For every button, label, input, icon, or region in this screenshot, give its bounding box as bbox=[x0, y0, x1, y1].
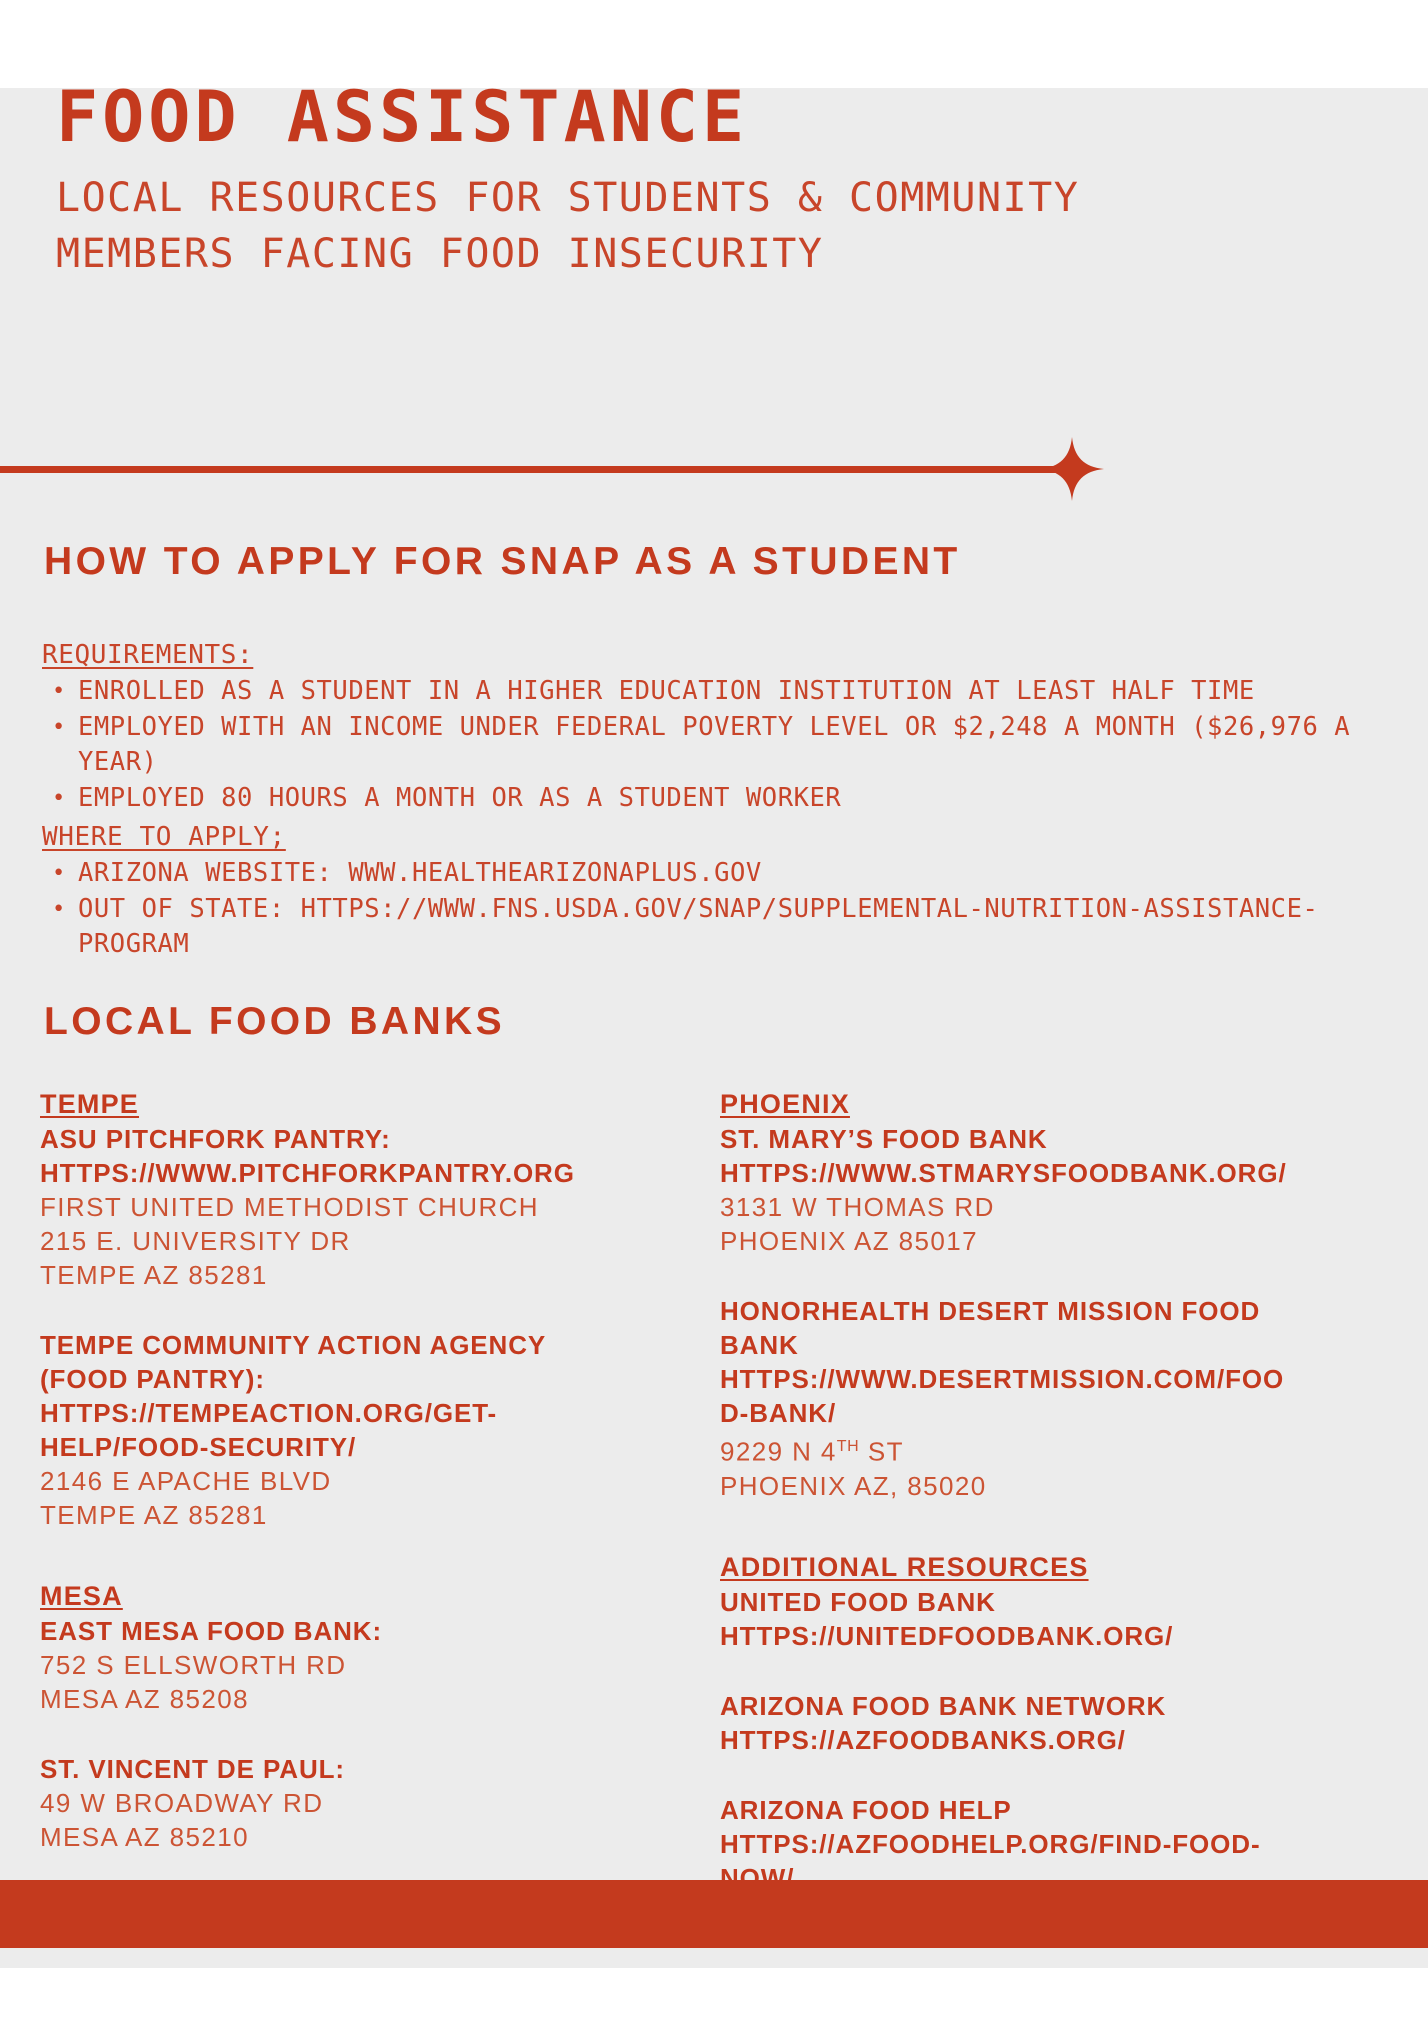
list-item: ST. VINCENT DE PAUL: 49 W BROADWAY RD ME… bbox=[40, 1752, 640, 1854]
list-item: HONORHEALTH DESERT MISSION FOOD BANK HTT… bbox=[720, 1294, 1320, 1503]
list-item: ARIZONA FOOD HELP HTTPS://AZFOODHELP.ORG… bbox=[720, 1793, 1320, 1895]
entry-name: TEMPE COMMUNITY ACTION AGENCY bbox=[40, 1328, 640, 1362]
requirements-label: REQUIREMENTS: bbox=[42, 638, 1402, 672]
entry-address: PHOENIX AZ, 85020 bbox=[720, 1469, 1320, 1503]
entry-name: BANK bbox=[720, 1328, 1320, 1362]
entry-name: ASU PITCHFORK PANTRY: bbox=[40, 1122, 640, 1156]
entry-name: HONORHEALTH DESERT MISSION FOOD bbox=[720, 1294, 1320, 1328]
page-subtitle: LOCAL RESOURCES FOR STUDENTS & COMMUNITY… bbox=[56, 170, 1396, 282]
entry-url[interactable]: D-BANK/ bbox=[720, 1396, 1320, 1430]
masthead: FOOD ASSISTANCE LOCAL RESOURCES FOR STUD… bbox=[56, 78, 1396, 282]
list-item: EMPLOYED 80 HOURS A MONTH OR AS A STUDEN… bbox=[78, 781, 1402, 816]
entry-address: 3131 W THOMAS RD bbox=[720, 1190, 1320, 1224]
list-item[interactable]: OUT OF STATE: HTTPS://WWW.FNS.USDA.GOV/S… bbox=[78, 892, 1402, 962]
four-point-sparkle-icon bbox=[1040, 437, 1104, 501]
entry-name: UNITED FOOD BANK bbox=[720, 1585, 1320, 1619]
divider-line bbox=[0, 466, 1060, 473]
where-to-apply-label: WHERE TO APPLY; bbox=[42, 820, 1402, 854]
spacer bbox=[40, 1532, 640, 1578]
subtitle-line-1: LOCAL RESOURCES FOR STUDENTS & COMMUNITY bbox=[56, 170, 1396, 226]
entry-url[interactable]: HTTPS://WWW.PITCHFORKPANTRY.ORG bbox=[40, 1156, 640, 1190]
list-item: EAST MESA FOOD BANK: 752 S ELLSWORTH RD … bbox=[40, 1614, 640, 1716]
entry-url[interactable]: HELP/FOOD-SECURITY/ bbox=[40, 1430, 640, 1464]
entry-name: ARIZONA FOOD BANK NETWORK bbox=[720, 1689, 1320, 1723]
spacer bbox=[720, 1258, 1320, 1294]
entry-name: (FOOD PANTRY): bbox=[40, 1362, 640, 1396]
entry-url[interactable]: HTTPS://UNITEDFOODBANK.ORG/ bbox=[720, 1619, 1320, 1653]
entry-address: FIRST UNITED METHODIST CHURCH bbox=[40, 1190, 640, 1224]
section-heading-food-banks: LOCAL FOOD BANKS bbox=[44, 1000, 505, 1044]
entry-address: 9229 N 4TH ST bbox=[720, 1430, 1320, 1469]
entry-address: 752 S ELLSWORTH RD bbox=[40, 1648, 640, 1682]
entry-address: 215 E. UNIVERSITY DR bbox=[40, 1224, 640, 1258]
snap-body: REQUIREMENTS: ENROLLED AS A STUDENT IN A… bbox=[42, 638, 1402, 966]
list-item: ST. MARY’S FOOD BANK HTTPS://WWW.STMARYS… bbox=[720, 1122, 1320, 1258]
entry-url[interactable]: HTTPS://AZFOODHELP.ORG/FIND-FOOD- bbox=[720, 1827, 1320, 1861]
spacer bbox=[40, 1292, 640, 1328]
entry-address: 2146 E APACHE BLVD bbox=[40, 1464, 640, 1498]
requirements-list: ENROLLED AS A STUDENT IN A HIGHER EDUCAT… bbox=[42, 674, 1402, 816]
entry-name: ST. VINCENT DE PAUL: bbox=[40, 1752, 640, 1786]
entry-address: TEMPE AZ 85281 bbox=[40, 1498, 640, 1532]
where-to-apply-list: ARIZONA WEBSITE: WWW.HEALTHEARIZONAPLUS.… bbox=[42, 856, 1402, 962]
entry-name: EAST MESA FOOD BANK: bbox=[40, 1614, 640, 1648]
header-divider bbox=[0, 449, 1100, 489]
city-heading-mesa: MESA bbox=[40, 1578, 640, 1614]
address-street-type: ST bbox=[859, 1437, 904, 1467]
entry-address: TEMPE AZ 85281 bbox=[40, 1258, 640, 1292]
entry-url[interactable]: NOW/ bbox=[720, 1861, 1320, 1895]
list-item: ENROLLED AS A STUDENT IN A HIGHER EDUCAT… bbox=[78, 674, 1402, 709]
entry-address: MESA AZ 85210 bbox=[40, 1820, 640, 1854]
spacer bbox=[40, 1716, 640, 1752]
city-heading-phoenix: PHOENIX bbox=[720, 1086, 1320, 1122]
entry-name: ST. MARY’S FOOD BANK bbox=[720, 1122, 1320, 1156]
spacer bbox=[720, 1653, 1320, 1689]
entry-url[interactable]: HTTPS://TEMPEACTION.ORG/GET- bbox=[40, 1396, 640, 1430]
entry-address: MESA AZ 85208 bbox=[40, 1682, 640, 1716]
address-street-number: 9229 N 4 bbox=[720, 1437, 837, 1467]
spacer bbox=[720, 1757, 1320, 1793]
list-item: EMPLOYED WITH AN INCOME UNDER FEDERAL PO… bbox=[78, 710, 1402, 780]
subtitle-line-2: MEMBERS FACING FOOD INSECURITY bbox=[56, 226, 1396, 282]
list-item: ASU PITCHFORK PANTRY: HTTPS://WWW.PITCHF… bbox=[40, 1122, 640, 1292]
entry-url[interactable]: HTTPS://AZFOODBANKS.ORG/ bbox=[720, 1723, 1320, 1757]
list-item: UNITED FOOD BANK HTTPS://UNITEDFOODBANK.… bbox=[720, 1585, 1320, 1653]
spacer bbox=[720, 1503, 1320, 1549]
ordinal-suffix: TH bbox=[837, 1438, 860, 1455]
column-right: PHOENIX ST. MARY’S FOOD BANK HTTPS://WWW… bbox=[720, 1086, 1320, 1895]
entry-address: 49 W BROADWAY RD bbox=[40, 1786, 640, 1820]
entry-url[interactable]: HTTPS://WWW.DESERTMISSION.COM/FOO bbox=[720, 1362, 1320, 1396]
list-item: ARIZONA FOOD BANK NETWORK HTTPS://AZFOOD… bbox=[720, 1689, 1320, 1757]
list-item: TEMPE COMMUNITY ACTION AGENCY (FOOD PANT… bbox=[40, 1328, 640, 1532]
column-left: TEMPE ASU PITCHFORK PANTRY: HTTPS://WWW.… bbox=[40, 1086, 640, 1854]
section-heading-snap: HOW TO APPLY FOR SNAP AS A STUDENT bbox=[44, 540, 961, 584]
page-title: FOOD ASSISTANCE bbox=[56, 78, 1396, 156]
entry-url[interactable]: HTTPS://WWW.STMARYSFOODBANK.ORG/ bbox=[720, 1156, 1320, 1190]
list-item[interactable]: ARIZONA WEBSITE: WWW.HEALTHEARIZONAPLUS.… bbox=[78, 856, 1402, 891]
entry-name: ARIZONA FOOD HELP bbox=[720, 1793, 1320, 1827]
entry-address: PHOENIX AZ 85017 bbox=[720, 1224, 1320, 1258]
city-heading-tempe: TEMPE bbox=[40, 1086, 640, 1122]
additional-resources-heading: ADDITIONAL RESOURCES bbox=[720, 1549, 1320, 1585]
